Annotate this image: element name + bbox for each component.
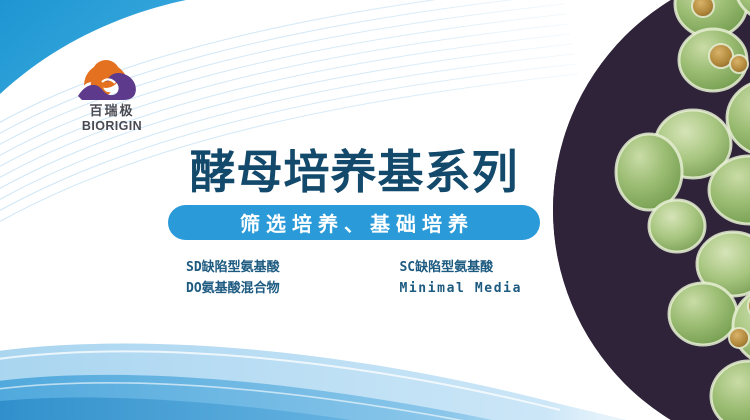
logo-english-name: BIORIGIN (66, 119, 158, 133)
subtitle-text: 筛选培养、基础培养 (234, 208, 474, 237)
product-item: Minimal Media (399, 280, 522, 298)
biorigin-logo-mark (72, 52, 152, 102)
product-item: DO氨基酸混合物 (186, 280, 280, 298)
promo-banner: 百瑞极 BIORIGIN 酵母培养基系列 筛选培养、基础培养 SD缺陷型氨基酸 … (0, 0, 750, 420)
product-item: SD缺陷型氨基酸 (186, 259, 280, 277)
page-title: 酵母培养基系列 (168, 144, 540, 200)
brand-logo[interactable]: 百瑞极 BIORIGIN (66, 52, 158, 133)
logo-chinese-name: 百瑞极 (66, 104, 158, 119)
product-list: SD缺陷型氨基酸 DO氨基酸混合物 SC缺陷型氨基酸 Minimal Media (168, 259, 540, 298)
product-column-left: SD缺陷型氨基酸 DO氨基酸混合物 (186, 259, 280, 298)
headline-block: 酵母培养基系列 筛选培养、基础培养 (168, 144, 540, 240)
product-item: SC缺陷型氨基酸 (399, 259, 522, 277)
subtitle-pill: 筛选培养、基础培养 (168, 205, 540, 240)
product-column-right: SC缺陷型氨基酸 Minimal Media (399, 259, 522, 298)
